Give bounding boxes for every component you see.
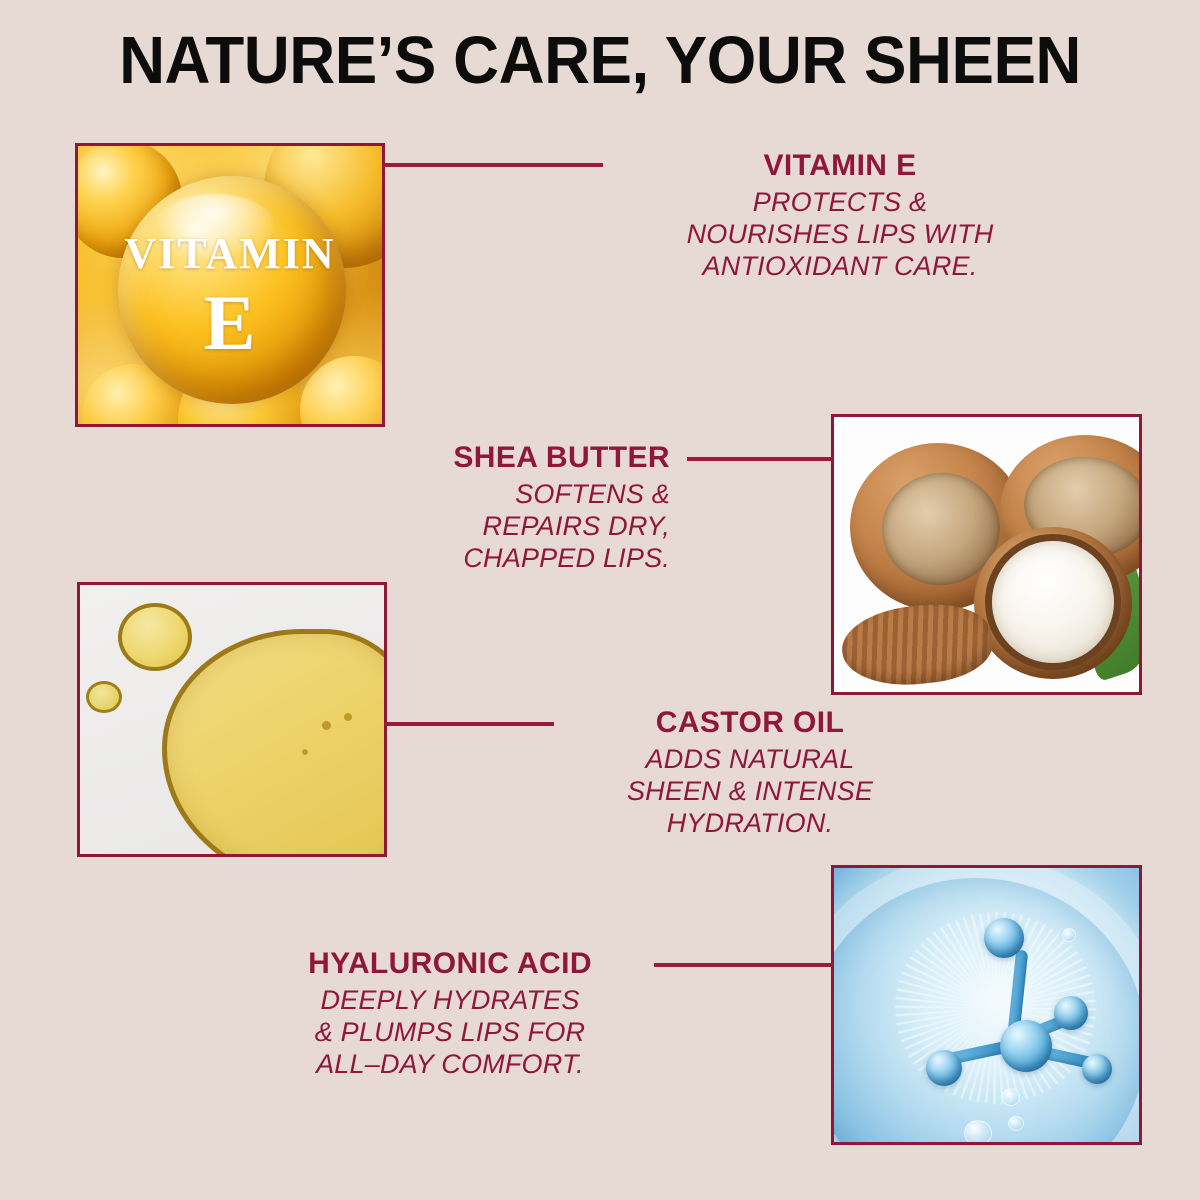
water-droplet: [964, 1120, 992, 1145]
castor-oil-droplet-small: [86, 681, 122, 713]
molecule-atom-left: [926, 1050, 962, 1086]
description-vitamin-e: PROTECTS & NOURISHES LIPS WITH ANTIOXIDA…: [630, 186, 1050, 282]
description-castor-oil: ADDS NATURAL SHEEN & INTENSE HYDRATION.: [540, 743, 960, 839]
connector-line-shea-butter: [687, 457, 833, 461]
connector-line-hyaluronic-acid: [654, 963, 833, 967]
molecule-atom-center: [1000, 1020, 1052, 1072]
description-line: ANTIOXIDANT CARE.: [630, 250, 1050, 282]
castor-oil-bubble: [322, 721, 331, 730]
oil-sphere-highlight: [156, 194, 274, 256]
water-droplet: [1062, 928, 1076, 942]
water-droplet: [1002, 1088, 1020, 1106]
castor-oil-bubble: [302, 749, 308, 755]
heading-shea-butter: SHEA BUTTER: [240, 440, 670, 476]
image-panel-hyaluronic-acid: [831, 865, 1142, 1145]
description-line: PROTECTS &: [630, 186, 1050, 218]
description-line: CHAPPED LIPS.: [240, 542, 670, 574]
description-line: HYDRATION.: [540, 807, 960, 839]
image-panel-castor-oil: [77, 582, 387, 857]
connector-line-castor-oil: [384, 722, 554, 726]
description-line: ADDS NATURAL: [540, 743, 960, 775]
page-title: NATURE’S CARE, YOUR SHEEN: [30, 22, 1170, 99]
description-line: DEEPLY HYDRATES: [260, 984, 640, 1016]
description-line: & PLUMPS LIPS FOR: [260, 1016, 640, 1048]
description-shea-butter: SOFTENS & REPAIRS DRY, CHAPPED LIPS.: [240, 478, 670, 574]
heading-castor-oil: CASTOR OIL: [540, 705, 960, 741]
castor-oil-bubble: [344, 713, 352, 721]
molecule-atom-top: [984, 918, 1024, 958]
water-droplet: [1008, 1116, 1024, 1131]
image-panel-vitamin-e: VITAMIN E: [75, 143, 385, 427]
description-line: ALL–DAY COMFORT.: [260, 1048, 640, 1080]
glass-jar-rim: [831, 865, 1142, 1145]
castor-oil-droplet-large: [118, 603, 192, 671]
description-line: SHEEN & INTENSE: [540, 775, 960, 807]
image-panel-shea-butter: [831, 414, 1142, 695]
description-line: REPAIRS DRY,: [240, 510, 670, 542]
heading-hyaluronic-acid: HYALURONIC ACID: [260, 946, 640, 982]
connector-line-vitamin-e: [383, 163, 603, 167]
molecule-atom-bottom-right: [1082, 1054, 1112, 1084]
text-block-vitamin-e: VITAMIN E PROTECTS & NOURISHES LIPS WITH…: [630, 148, 1050, 282]
heading-vitamin-e: VITAMIN E: [630, 148, 1050, 184]
text-block-castor-oil: CASTOR OIL ADDS NATURAL SHEEN & INTENSE …: [540, 705, 960, 839]
text-block-hyaluronic-acid: HYALURONIC ACID DEEPLY HYDRATES & PLUMPS…: [260, 946, 640, 1080]
text-block-shea-butter: SHEA BUTTER SOFTENS & REPAIRS DRY, CHAPP…: [240, 440, 670, 574]
molecule-atom-right: [1054, 996, 1088, 1030]
description-line: SOFTENS &: [240, 478, 670, 510]
description-line: NOURISHES LIPS WITH: [630, 218, 1050, 250]
description-hyaluronic-acid: DEEPLY HYDRATES & PLUMPS LIPS FOR ALL–DA…: [260, 984, 640, 1080]
shea-butter-white-fill: [992, 541, 1114, 663]
